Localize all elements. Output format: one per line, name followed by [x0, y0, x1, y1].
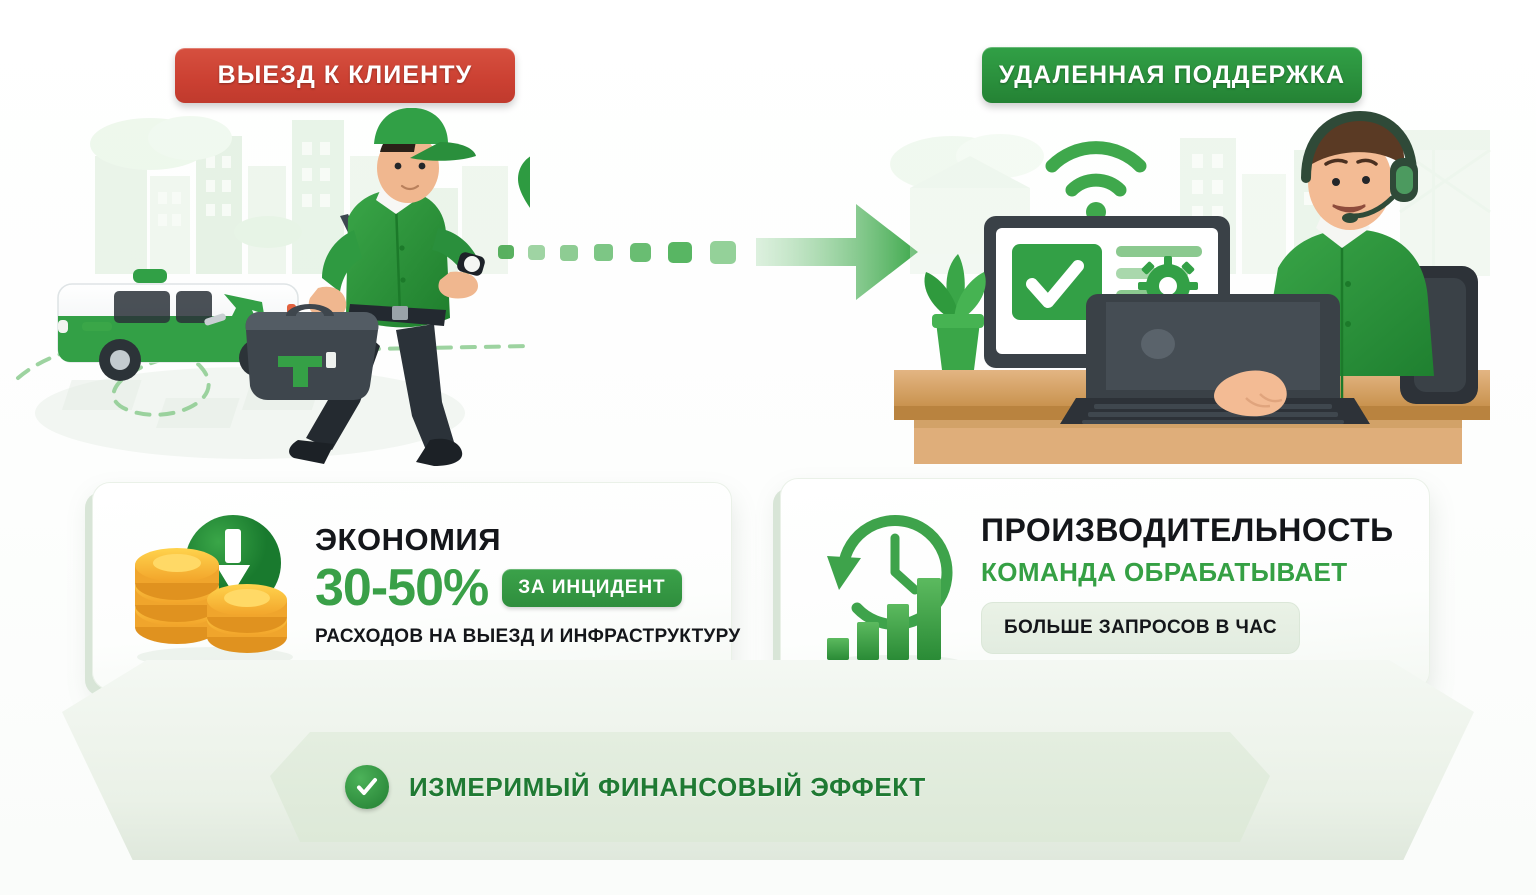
savings-pill-per-incident: ЗА ИНЦИДЕНТ [502, 569, 681, 607]
clock-rewind-bar-chart-icon [809, 494, 981, 674]
bottom-banner: ИЗМЕРИМЫЙ ФИНАНСОВЫЙ ЭФФЕКТ [270, 732, 1270, 842]
infographic-canvas: ВЫЕЗД К КЛИЕНТУ УДАЛЕННАЯ ПОДДЕРЖКА [0, 0, 1536, 895]
flow-dots-icon [498, 241, 736, 264]
coins-down-arrow-icon [115, 501, 315, 671]
card-savings-subtitle: РАСХОДОВ НА ВЫЕЗД И ИНФРАСТРУКТУРУ [315, 626, 741, 648]
card-savings-body: ЭКОНОМИЯ 30-50% ЗА ИНЦИДЕНТ РАСХОДОВ НА … [315, 524, 753, 649]
bottom-banner-label: ИЗМЕРИМЫЙ ФИНАНСОВЫЙ ЭФФЕКТ [409, 772, 926, 803]
scene-onsite-technician [10, 108, 530, 468]
flow-arrow-group [470, 160, 950, 320]
card-productivity-title: ПРОИЗВОДИТЕЛЬНОСТЬ [981, 514, 1417, 548]
toolbag-icon [246, 304, 379, 400]
badge-onsite-visit: ВЫЕЗД К КЛИЕНТУ [175, 48, 515, 103]
badge-remote-support: УДАЛЕННАЯ ПОДДЕРЖКА [982, 47, 1362, 103]
card-savings-title: ЭКОНОМИЯ [315, 524, 741, 557]
scene-remote-support [880, 108, 1510, 468]
card-productivity-body: ПРОИЗВОДИТЕЛЬНОСТЬ КОМАНДА ОБРАБАТЫВАЕТ … [981, 514, 1429, 655]
card-productivity: ПРОИЗВОДИТЕЛЬНОСТЬ КОМАНДА ОБРАБАТЫВАЕТ … [780, 478, 1430, 690]
card-productivity-soft-pill: БОЛЬШЕ ЗАПРОСОВ В ЧАС [981, 602, 1300, 654]
rewind-arrowhead-icon [827, 556, 861, 590]
card-productivity-green-line: КОМАНДА ОБРАБАТЫВАЕТ [981, 557, 1417, 588]
card-savings: ЭКОНОМИЯ 30-50% ЗА ИНЦИДЕНТ РАСХОДОВ НА … [92, 482, 732, 690]
check-circle-icon [345, 765, 389, 809]
laptop-icon [1060, 294, 1370, 424]
card-savings-value-row: 30-50% ЗА ИНЦИДЕНТ [315, 562, 741, 614]
wifi-icon [1052, 148, 1140, 190]
savings-value: 30-50% [315, 562, 488, 614]
